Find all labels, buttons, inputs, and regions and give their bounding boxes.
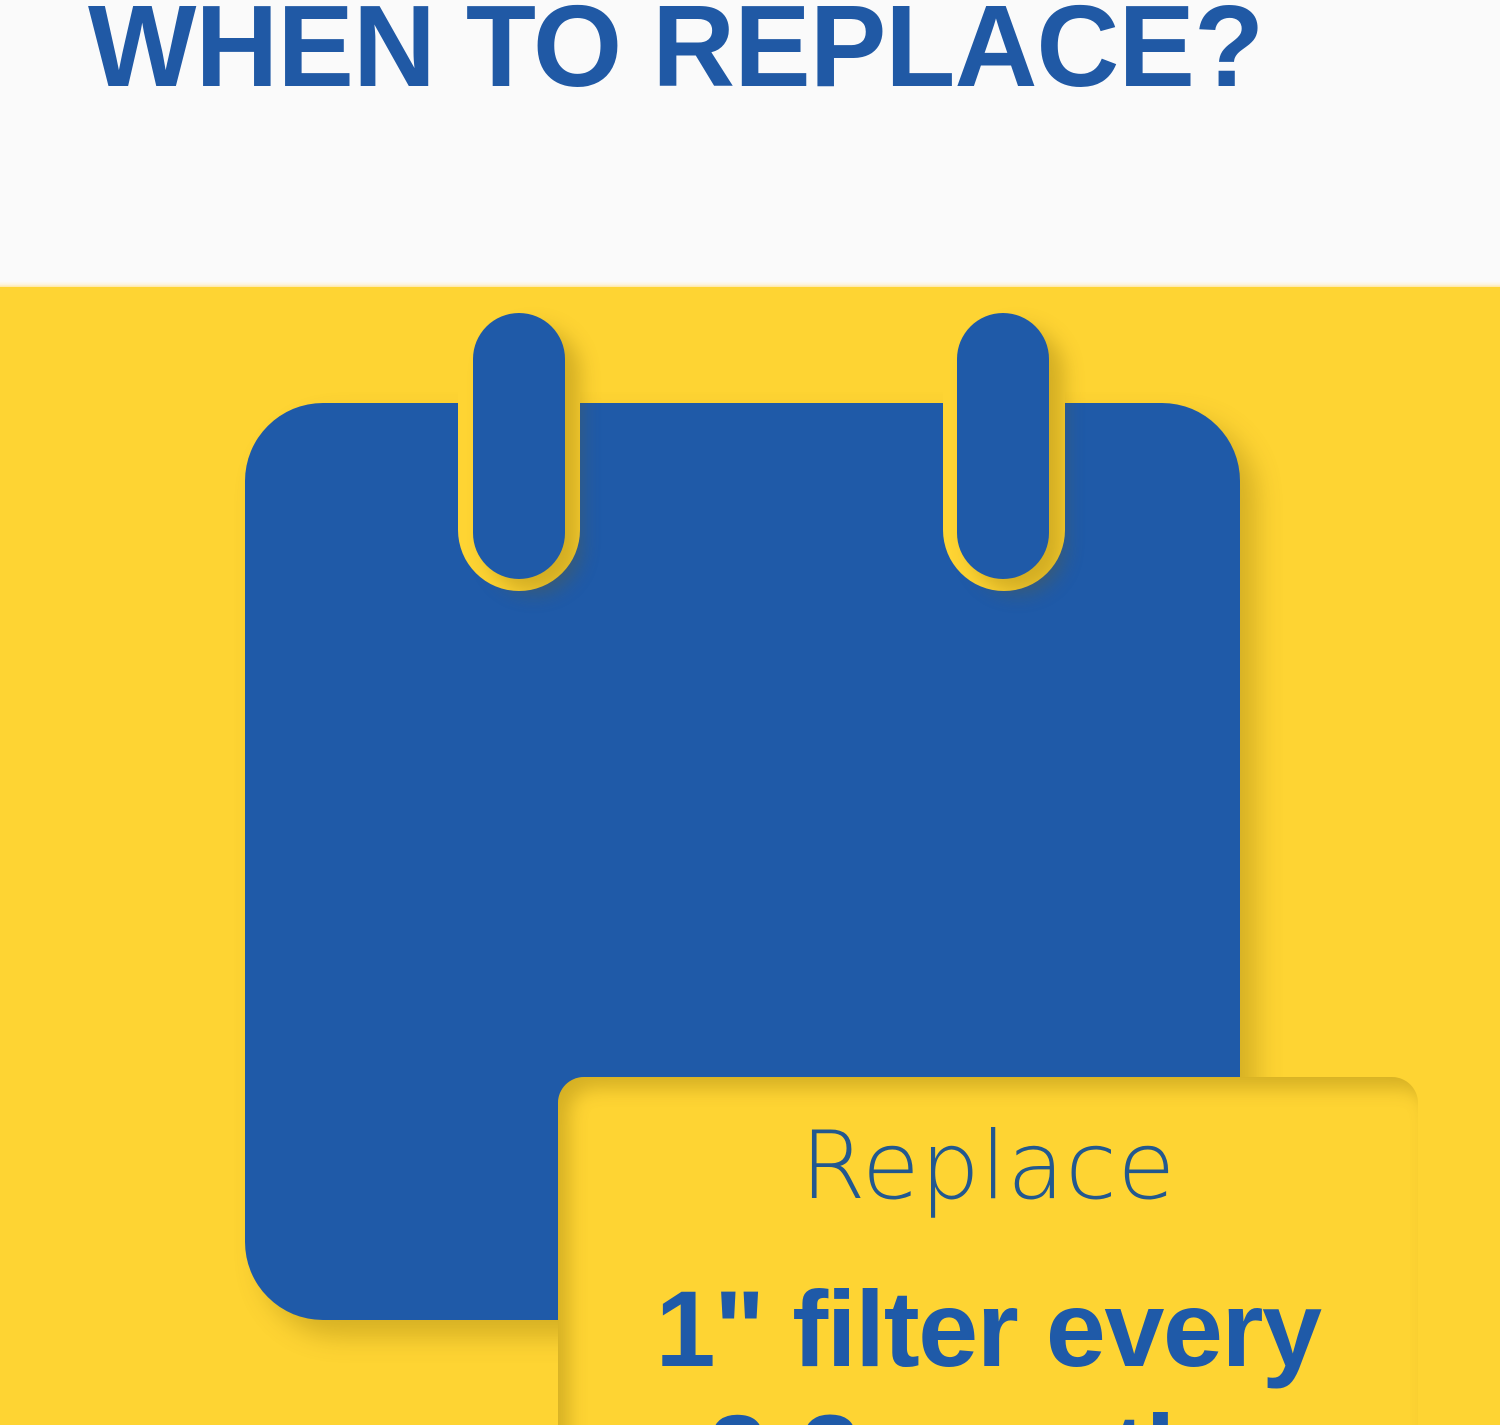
- calendar-icon: Replace 1" filter every 2-3 months Every…: [245, 403, 1240, 1320]
- replace-headline: 1" filter every 2-3 months: [558, 1267, 1418, 1425]
- replace-headline-line-1: 1" filter every: [558, 1267, 1418, 1391]
- calendar-ring-left: [473, 313, 565, 579]
- infographic-canvas: WHEN TO REPLACE? Replace 1" filter every…: [0, 0, 1500, 1425]
- page-title: WHEN TO REPLACE?: [88, 0, 1263, 106]
- header-band: WHEN TO REPLACE?: [0, 0, 1500, 287]
- calendar-ring-right: [957, 313, 1049, 579]
- stage-seam-divider: [0, 281, 1500, 287]
- calendar-page: Replace 1" filter every 2-3 months Every…: [558, 1077, 1418, 1425]
- replace-eyebrow-text: Replace: [558, 1117, 1418, 1217]
- replace-headline-line-2: 2-3 months: [558, 1391, 1418, 1425]
